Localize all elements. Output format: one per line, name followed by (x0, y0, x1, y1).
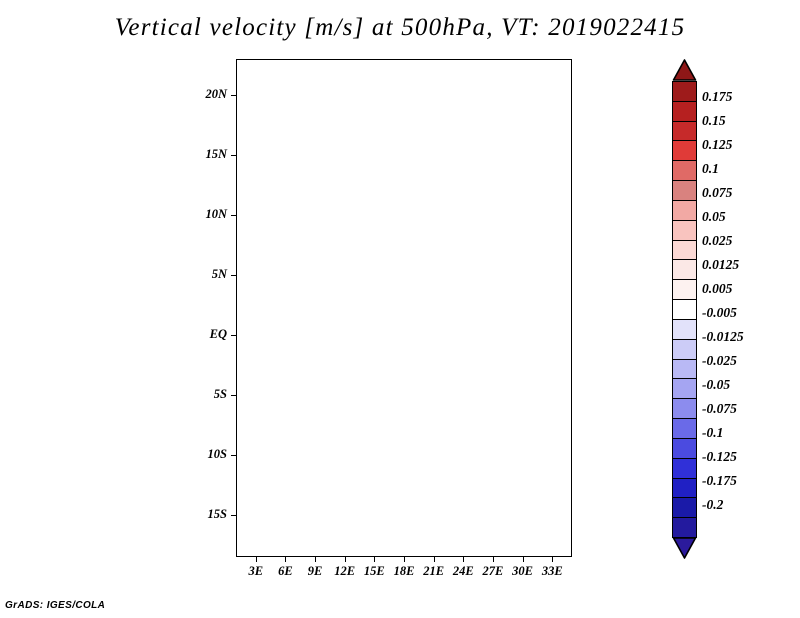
map-plot-area (236, 59, 572, 557)
x-axis-tick-6e: 6E (271, 564, 299, 579)
colorbar-tick-label: -0.005 (702, 305, 737, 321)
colorbar-tick-label: -0.05 (702, 377, 730, 393)
x-axis-tick-24e: 24E (449, 564, 477, 579)
colorbar: 0.1750.150.1250.10.0750.050.0250.01250.0… (672, 59, 697, 559)
colorbar-swatch (672, 319, 697, 340)
y-axis-tickmark (231, 515, 236, 516)
colorbar-tick-label: 0.005 (702, 281, 732, 297)
x-axis-tick-3e: 3E (242, 564, 270, 579)
x-axis-tickmark (315, 557, 316, 562)
colorbar-swatch (672, 339, 697, 360)
colorbar-tick-label: -0.175 (702, 473, 737, 489)
colorbar-tick-label: -0.1 (702, 425, 723, 441)
colorbar-cap-bottom (672, 537, 697, 559)
y-axis-tickmark (231, 395, 236, 396)
colorbar-tick-label: 0.1 (702, 161, 719, 177)
colorbar-swatch (672, 279, 697, 300)
x-axis-tick-33e: 33E (538, 564, 566, 579)
colorbar-swatch (672, 220, 697, 241)
y-axis-tick-5n: 5N (212, 267, 227, 282)
colorbar-tick-label: 0.025 (702, 233, 732, 249)
y-axis-tickmark (231, 335, 236, 336)
colorbar-cap-top (672, 59, 697, 81)
x-axis-tickmark (523, 557, 524, 562)
colorbar-tick-label: -0.125 (702, 449, 737, 465)
colorbar-swatch (672, 180, 697, 201)
y-axis-tickmark (231, 455, 236, 456)
colorbar-swatch (672, 81, 697, 102)
colorbar-tick-label: 0.15 (702, 113, 726, 129)
colorbar-swatch (672, 140, 697, 161)
x-axis-tick-27e: 27E (479, 564, 507, 579)
y-axis-tick-10s: 10S (208, 447, 227, 462)
y-axis-tickmark (231, 275, 236, 276)
x-axis-tickmark (285, 557, 286, 562)
colorbar-tick-label: -0.075 (702, 401, 737, 417)
colorbar-swatch (672, 259, 697, 280)
colorbar-swatch (672, 418, 697, 439)
colorbar-swatch (672, 160, 697, 181)
y-axis-tick-10n: 10N (205, 207, 227, 222)
colorbar-swatch (672, 478, 697, 499)
footer-attribution: GrADS: IGES/COLA (5, 600, 105, 611)
x-axis-tick-12e: 12E (331, 564, 359, 579)
y-axis-tickmark (231, 95, 236, 96)
colorbar-swatch (672, 378, 697, 399)
y-axis-tick-15n: 15N (205, 147, 227, 162)
x-axis-tickmark (434, 557, 435, 562)
colorbar-tick-label: 0.075 (702, 185, 732, 201)
colorbar-swatch (672, 200, 697, 221)
colorbar-swatch (672, 517, 697, 538)
colorbar-swatch (672, 121, 697, 142)
x-axis-tick-21e: 21E (420, 564, 448, 579)
x-axis-tickmark (463, 557, 464, 562)
y-axis-tick-5s: 5S (214, 387, 227, 402)
x-axis-tickmark (374, 557, 375, 562)
colorbar-swatch (672, 497, 697, 518)
y-axis-tick-eq: EQ (210, 327, 227, 342)
x-axis-tick-15e: 15E (360, 564, 388, 579)
x-axis-tickmark (345, 557, 346, 562)
colorbar-swatch (672, 299, 697, 320)
country-borders-overlay (237, 60, 571, 556)
colorbar-tick-label: 0.05 (702, 209, 726, 225)
y-axis-tick-20n: 20N (205, 87, 227, 102)
colorbar-swatch (672, 240, 697, 261)
x-axis-tickmark (552, 557, 553, 562)
x-axis-tick-30e: 30E (509, 564, 537, 579)
y-axis-tickmark (231, 215, 236, 216)
y-axis-tickmark (231, 155, 236, 156)
x-axis-tickmark (493, 557, 494, 562)
x-axis-tickmark (404, 557, 405, 562)
colorbar-swatch (672, 458, 697, 479)
colorbar-tick-label: 0.0125 (702, 257, 739, 273)
y-axis-tick-15s: 15S (208, 507, 227, 522)
x-axis-tickmark (256, 557, 257, 562)
colorbar-tick-label: -0.025 (702, 353, 737, 369)
page-title: Vertical velocity [m/s] at 500hPa, VT: 2… (0, 14, 800, 42)
colorbar-tick-label: -0.0125 (702, 329, 744, 345)
colorbar-tick-label: 0.125 (702, 137, 732, 153)
x-axis-tick-9e: 9E (301, 564, 329, 579)
colorbar-swatch (672, 101, 697, 122)
colorbar-swatch (672, 438, 697, 459)
colorbar-tick-label: -0.2 (702, 497, 723, 513)
colorbar-swatch (672, 359, 697, 380)
colorbar-swatch (672, 398, 697, 419)
x-axis-tick-18e: 18E (390, 564, 418, 579)
colorbar-tick-label: 0.175 (702, 89, 732, 105)
